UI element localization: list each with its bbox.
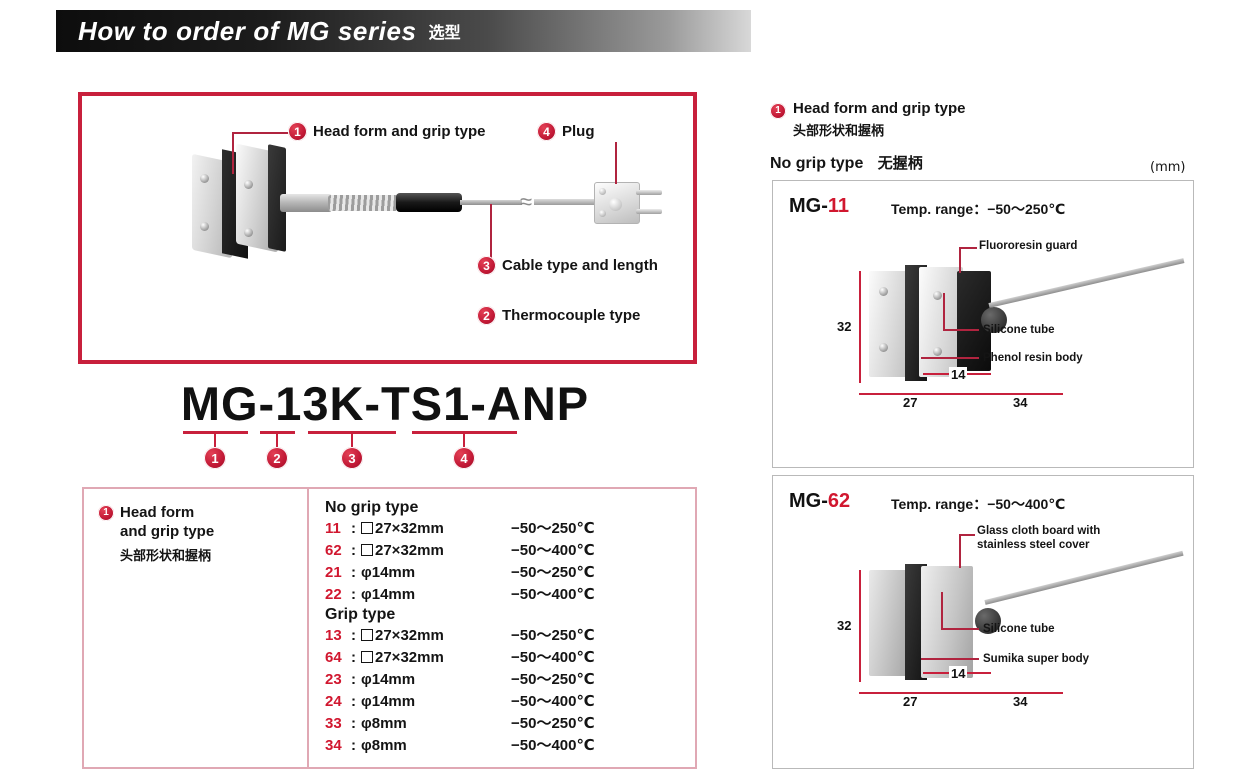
spec-row-colon: :: [351, 518, 361, 540]
page-title: How to order of MG series: [78, 16, 417, 47]
head-screw: [200, 174, 209, 183]
spec-row-size: φ8mm: [361, 713, 511, 735]
mg11-dim-left-label: 27: [901, 395, 919, 410]
spec-row-size: φ14mm: [361, 691, 511, 713]
mg62-body-photo: [869, 564, 989, 682]
badge-number-1: 1: [98, 505, 114, 521]
unit-note: (mm): [1150, 160, 1185, 175]
callout-1-label: Head form and grip type: [313, 123, 486, 140]
page-title-chinese: 选型: [429, 19, 461, 43]
code-badge-3: 3: [341, 447, 363, 469]
mg62-annotation-1-line2: stainless steel cover: [977, 539, 1090, 551]
spec-row-code: 62: [325, 540, 351, 562]
head-screw: [244, 180, 253, 189]
right-column-section-title: No grip type 无握柄: [770, 152, 923, 173]
mg11-annotation-1: Fluororesin guard: [979, 239, 1077, 253]
right-column-title-chinese: 头部形状和握柄: [793, 120, 966, 139]
spec-row-colon: :: [351, 562, 361, 584]
spec-row-colon: :: [351, 584, 361, 606]
spec-row-size: 27×32mm: [361, 518, 511, 540]
spec-row-size: φ14mm: [361, 562, 511, 584]
leader-line-1-h: [232, 132, 288, 134]
right-column-header: 1 Head form and grip type 头部形状和握柄: [770, 100, 966, 139]
drawing-prefix: MG-: [789, 195, 828, 217]
mg11-ann-leader-3: [921, 357, 979, 359]
mg11-screw: [879, 287, 888, 296]
probe-shaft: [280, 194, 332, 212]
spec-row: 34:φ8mm−50〜400℃: [325, 735, 695, 757]
mg11-dim-right-label: 34: [1011, 395, 1029, 410]
spec-row: 33:φ8mm−50〜250℃: [325, 713, 695, 735]
code-badge-4: 4: [453, 447, 475, 469]
spec-head-line1: Head form: [120, 504, 194, 521]
product-photo-panel: ≈ 1 Head form and grip type 4 Plug 3 Cab…: [78, 92, 697, 364]
square-shape-icon: [361, 629, 373, 641]
mg11-screw: [933, 347, 942, 356]
sensor-cable-segment-2: [534, 199, 596, 205]
drawing-title-mg11: MG-11: [789, 195, 849, 218]
plug-pin: [636, 190, 662, 195]
mg11-dim-height-label: 32: [835, 319, 853, 334]
spec-head-label: Head form and grip type: [120, 503, 214, 541]
mg11-screw: [933, 291, 942, 300]
spec-row-colon: :: [351, 735, 361, 757]
leader-line-4: [615, 142, 617, 184]
right-column-header-text: Head form and grip type 头部形状和握柄: [793, 100, 966, 139]
spec-head-label-chinese: 头部形状和握柄: [120, 545, 307, 564]
mg11-annotation-2: Silicone tube: [983, 323, 1055, 337]
mg11-cable: [988, 258, 1184, 308]
drawing-panel-mg62: MG-62 Temp. range：−50〜400℃ 32 27 14 34 G…: [772, 475, 1194, 769]
callout-2: 2 Thermocouple type: [477, 306, 640, 325]
spec-row-colon: :: [351, 713, 361, 735]
callout-3-label: Cable type and length: [502, 257, 658, 274]
spec-row-code: 33: [325, 713, 351, 735]
spec-group-rows-grip: 13:27×32mm−50〜250℃64:27×32mm−50〜400℃23:φ…: [325, 625, 695, 757]
black-ferrule: [396, 193, 462, 212]
spec-row-temp: −50〜250℃: [511, 625, 595, 647]
spec-row-code: 23: [325, 669, 351, 691]
plug-keyhole: [609, 198, 622, 211]
plug-screw: [599, 210, 606, 217]
mg62-plate-right: [921, 566, 973, 678]
callout-4: 4 Plug: [537, 122, 595, 141]
mg62-ann-leader-2h: [941, 628, 979, 630]
spec-row: 11:27×32mm−50〜250℃: [325, 518, 695, 540]
spec-row-size: 27×32mm: [361, 540, 511, 562]
mg62-ann-leader-1: [959, 534, 961, 568]
callout-3: 3 Cable type and length: [477, 256, 658, 275]
spec-row: 64:27×32mm−50〜400℃: [325, 647, 695, 669]
badge-number-1: 1: [770, 103, 786, 119]
spec-row: 13:27×32mm−50〜250℃: [325, 625, 695, 647]
section-title-cn: 无握柄: [878, 154, 923, 172]
leader-line-1: [232, 132, 234, 174]
spec-row-code: 64: [325, 647, 351, 669]
mg62-ann-leader-3: [921, 658, 979, 660]
mg62-annotation-1-line1: Glass cloth board with: [977, 525, 1100, 537]
mg11-screw: [879, 343, 888, 352]
mg11-ann-leader-2h: [943, 329, 979, 331]
plug-screw: [599, 188, 606, 195]
mg62-annotation-2: Silicone tube: [983, 622, 1055, 636]
spec-row-code: 21: [325, 562, 351, 584]
mg62-dim-height-label: 32: [835, 618, 853, 633]
mg62-ann-leader-2: [941, 592, 943, 630]
spec-row-colon: :: [351, 691, 361, 713]
mg11-ann-leader-2: [943, 293, 945, 331]
spec-row-size: 27×32mm: [361, 647, 511, 669]
code-badge-1: 1: [204, 447, 226, 469]
spec-row-size: φ14mm: [361, 669, 511, 691]
spring-sheath: [328, 195, 398, 211]
cable-break-symbol: ≈: [518, 188, 534, 216]
right-column-title: Head form and grip type: [793, 100, 966, 117]
spec-row-temp: −50〜400℃: [511, 735, 595, 757]
spec-row-temp: −50〜400℃: [511, 540, 595, 562]
spec-row-size: φ14mm: [361, 584, 511, 606]
spec-row-colon: :: [351, 647, 361, 669]
spec-row-code: 34: [325, 735, 351, 757]
mg11-dim-mid-label: 14: [949, 367, 967, 382]
spec-group-rows-no-grip: 11:27×32mm−50〜250℃62:27×32mm−50〜400℃21:φ…: [325, 518, 695, 606]
spec-head-row: 1 Head form and grip type: [98, 503, 307, 541]
spec-head-line2: and grip type: [120, 523, 214, 540]
square-shape-icon: [361, 522, 373, 534]
badge-number-3: 3: [477, 256, 496, 275]
drawing-title-mg62: MG-62: [789, 490, 850, 513]
callout-2-label: Thermocouple type: [502, 307, 640, 324]
spec-row: 23:φ14mm−50〜250℃: [325, 669, 695, 691]
spec-row-temp: −50〜250℃: [511, 713, 595, 735]
model-code-block: MG-13K-TS1-ANP 1 2 3 4: [150, 378, 620, 470]
spec-row: 62:27×32mm−50〜400℃: [325, 540, 695, 562]
spec-row: 21:φ14mm−50〜250℃: [325, 562, 695, 584]
mg11-ann-leader-1h: [959, 247, 977, 249]
mg62-ann-leader-1h: [959, 534, 975, 536]
spec-row-temp: −50〜250℃: [511, 562, 595, 584]
spec-group-title-grip: Grip type: [325, 606, 695, 624]
head-screw: [244, 228, 253, 237]
drawing-number: 62: [828, 490, 850, 512]
plug-pin: [636, 209, 662, 214]
spec-row-temp: −50〜250℃: [511, 518, 595, 540]
mg62-dim-right-label: 34: [1011, 694, 1029, 709]
spec-row-temp: −50〜400℃: [511, 691, 595, 713]
badge-number-2: 2: [477, 306, 496, 325]
square-shape-icon: [361, 651, 373, 663]
spec-row-size: φ8mm: [361, 735, 511, 757]
spec-table-right-cell: No grip type 11:27×32mm−50〜250℃62:27×32m…: [311, 489, 695, 777]
mg62-cable: [984, 551, 1183, 605]
callout-4-label: Plug: [562, 123, 595, 140]
spec-group-title-no-grip: No grip type: [325, 499, 695, 517]
mg11-annotation-3: Phenol resin body: [983, 351, 1083, 365]
callout-1: 1 Head form and grip type: [288, 122, 486, 141]
spec-row-temp: −50〜250℃: [511, 669, 595, 691]
drawing-temp-range-mg11: Temp. range：−50〜250℃: [891, 199, 1065, 219]
mg11-body-photo: [869, 265, 989, 383]
spec-row-temp: −50〜400℃: [511, 647, 595, 669]
head-screw: [200, 222, 209, 231]
probe-head-photo: [192, 150, 284, 260]
spec-row-code: 22: [325, 584, 351, 606]
spec-row-colon: :: [351, 540, 361, 562]
page-header: How to order of MG series 选型: [56, 10, 751, 52]
model-code-text: MG-13K-TS1-ANP: [150, 378, 620, 430]
spec-row-colon: :: [351, 625, 361, 647]
spec-table: 1 Head form and grip type 头部形状和握柄 No gri…: [82, 487, 697, 769]
code-badge-2: 2: [266, 447, 288, 469]
thermocouple-plug: [594, 182, 640, 224]
drawing-number: 11: [828, 195, 849, 217]
badge-number-4: 4: [537, 122, 556, 141]
spec-row-size: 27×32mm: [361, 625, 511, 647]
drawing-temp-range-mg62: Temp. range：−50〜400℃: [891, 494, 1065, 514]
mg11-dim-height-line: [859, 271, 861, 383]
section-title-en: No grip type: [770, 155, 863, 172]
spec-row-temp: −50〜400℃: [511, 584, 595, 606]
spec-row: 24:φ14mm−50〜400℃: [325, 691, 695, 713]
square-shape-icon: [361, 544, 373, 556]
mg62-annotation-3: Sumika super body: [983, 652, 1089, 666]
mg62-dim-height-line: [859, 570, 861, 682]
spec-row-code: 24: [325, 691, 351, 713]
leader-line-3: [490, 204, 492, 262]
spec-row-colon: :: [351, 669, 361, 691]
badge-number-1: 1: [288, 122, 307, 141]
mg62-annotation-1: Glass cloth board with stainless steel c…: [977, 524, 1100, 552]
drawing-prefix: MG-: [789, 490, 828, 512]
spec-row-code: 11: [325, 518, 351, 540]
mg62-dim-mid-label: 14: [949, 666, 967, 681]
spec-table-left-cell: 1 Head form and grip type 头部形状和握柄: [84, 489, 309, 767]
drawing-panel-mg11: MG-11 Temp. range：−50〜250℃ 32 27 14 34 F…: [772, 180, 1194, 468]
spec-row-code: 13: [325, 625, 351, 647]
mg62-dim-left-label: 27: [901, 694, 919, 709]
spec-row: 22:φ14mm−50〜400℃: [325, 584, 695, 606]
mg11-ann-leader-1: [959, 247, 961, 273]
